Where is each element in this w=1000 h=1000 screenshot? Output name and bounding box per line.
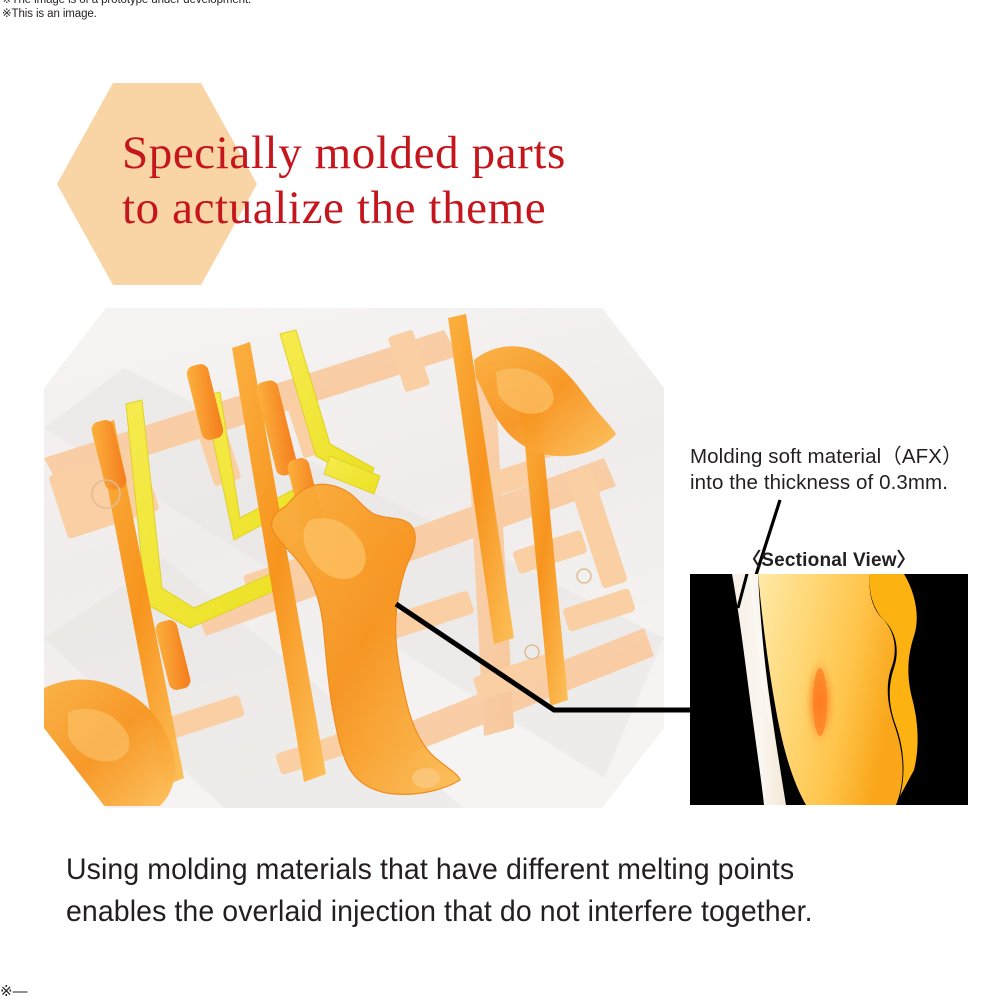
caption-text: Using molding materials that have differ… <box>66 849 813 933</box>
page-title-line-2: to actualize the theme <box>122 181 566 236</box>
disclaimer-line-1: ※The image is of a prototype under devel… <box>2 0 251 7</box>
annotation-text: Molding soft material（AFX） into the thic… <box>690 444 963 496</box>
page-title-line-1: Specially molded parts <box>122 126 566 181</box>
annotation-line-1: Molding soft material（AFX） <box>690 444 963 470</box>
sectional-view-artwork <box>690 574 968 805</box>
caption-line-1: Using molding materials that have differ… <box>66 849 813 891</box>
annotation-line-2: into the thickness of 0.3mm. <box>690 470 963 496</box>
bottom-cut-note: ※— <box>0 982 28 1000</box>
sprue-photo-artwork <box>44 308 664 808</box>
sectional-view-image <box>690 574 968 805</box>
page-title: Specially molded parts to actualize the … <box>122 126 566 236</box>
sprue-photo-image <box>44 308 664 808</box>
sprue-photo <box>44 308 664 808</box>
disclaimer-line-2: ※This is an image. <box>2 8 97 21</box>
sectional-view-caption: 〈Sectional View〉 <box>690 545 968 572</box>
caption-line-2: enables the overlaid injection that do n… <box>66 891 813 933</box>
